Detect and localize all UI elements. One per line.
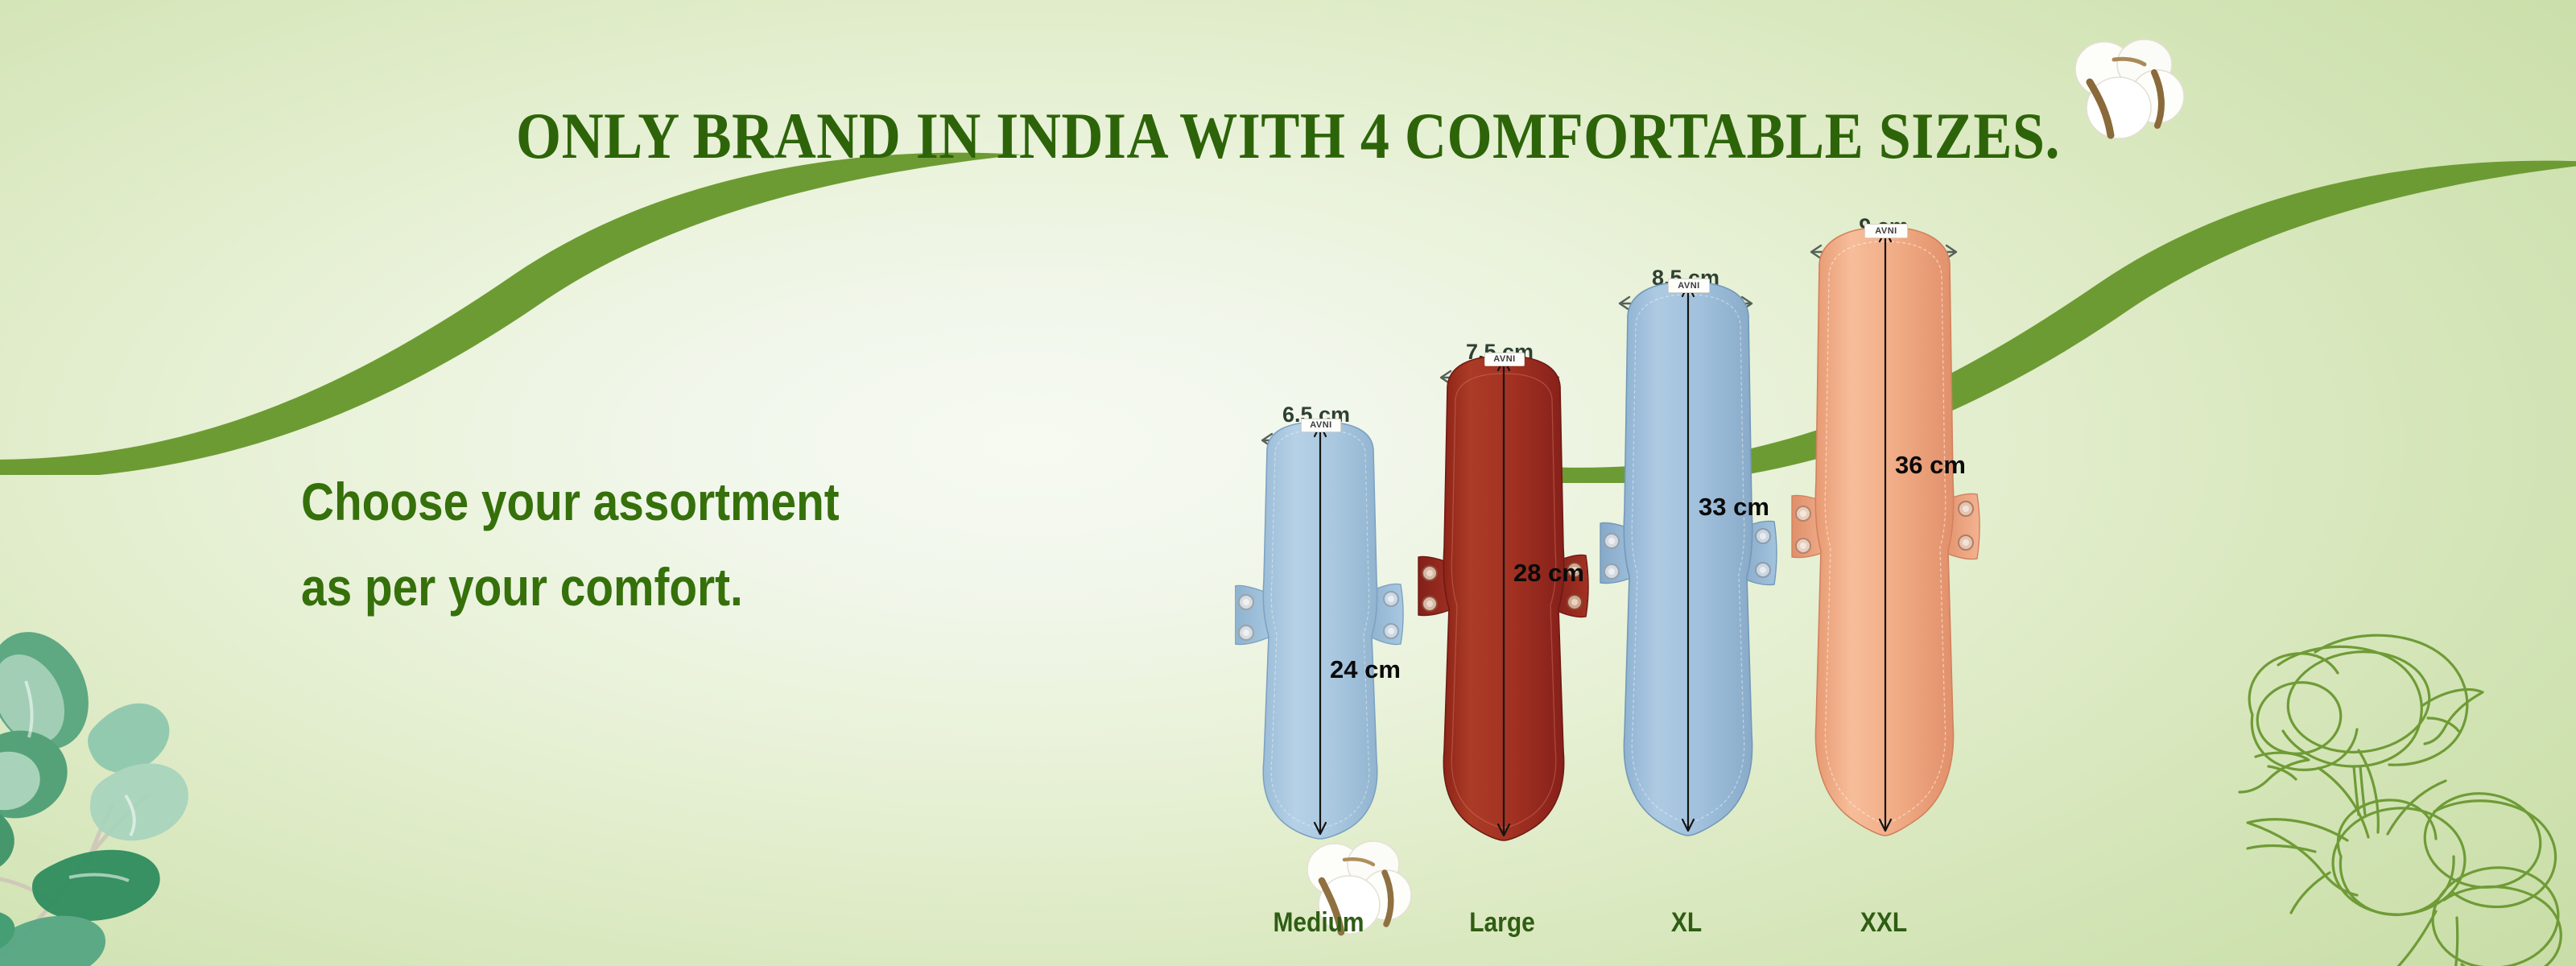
subtitle-line-2: as per your comfort.: [301, 544, 840, 630]
product-column-xl: 8.5 cm: [1596, 242, 1777, 950]
pad-illustration-large: [1417, 349, 1591, 873]
pad-figure-large: AVNI 28 cm: [1417, 349, 1591, 873]
product-column-medium: 6.5 cm: [1232, 242, 1406, 950]
subtitle-block: Choose your assortment as per your comfo…: [301, 459, 840, 630]
length-value-large: 28 cm: [1513, 559, 1584, 588]
subtitle-line-1: Choose your assortment: [301, 459, 840, 544]
size-label-large: Large: [1426, 907, 1579, 939]
pad-figure-medium: AVNI 24 cm: [1235, 414, 1406, 873]
size-label-xl: XL: [1607, 907, 1767, 939]
leaf-branch-icon: [0, 539, 314, 966]
pad-illustration-xl: [1597, 275, 1779, 873]
page-headline: ONLY BRAND IN INDIA WITH 4 COMFORTABLE S…: [155, 98, 2421, 174]
product-column-xxl: 9 cm: [1787, 242, 1980, 950]
pad-figure-xxl: AVNI 36 cm: [1789, 221, 1982, 873]
brand-tag-large: AVNI: [1484, 353, 1525, 366]
swoosh-curve-left-icon: [0, 137, 1030, 475]
brand-tag-xxl: AVNI: [1864, 224, 1908, 238]
size-label-medium: Medium: [1242, 907, 1395, 939]
pad-figure-xl: AVNI 33 cm: [1597, 275, 1779, 873]
length-value-medium: 24 cm: [1330, 655, 1401, 684]
length-value-xl: 33 cm: [1699, 493, 1769, 522]
product-size-group: 6.5 cm: [1232, 242, 2141, 950]
brand-tag-xl: AVNI: [1668, 279, 1710, 293]
promo-banner: ONLY BRAND IN INDIA WITH 4 COMFORTABLE S…: [0, 0, 2576, 966]
pad-illustration-medium: [1235, 414, 1406, 873]
size-label-xxl: XXL: [1798, 907, 1968, 939]
cotton-flower-line-art-icon: [2157, 515, 2576, 966]
pad-illustration-xxl: [1789, 221, 1982, 873]
length-value-xxl: 36 cm: [1895, 451, 1966, 480]
brand-tag-medium: AVNI: [1301, 419, 1341, 432]
product-column-large: 7.5 cm: [1415, 242, 1589, 950]
